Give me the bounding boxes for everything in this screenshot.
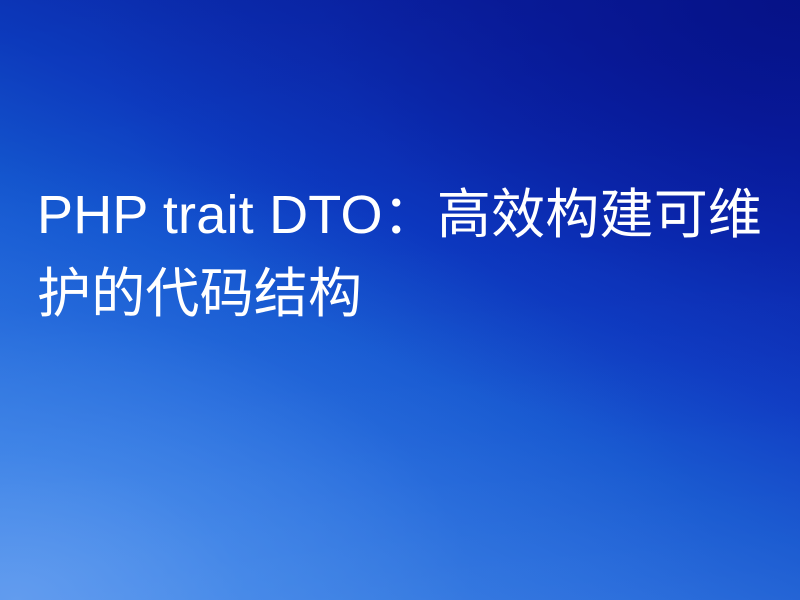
- page-title: PHP trait DTO：高效构建可维护的代码结构: [37, 176, 767, 334]
- title-block: PHP trait DTO：高效构建可维护的代码结构: [37, 176, 767, 334]
- title-card: PHP trait DTO：高效构建可维护的代码结构: [0, 0, 800, 600]
